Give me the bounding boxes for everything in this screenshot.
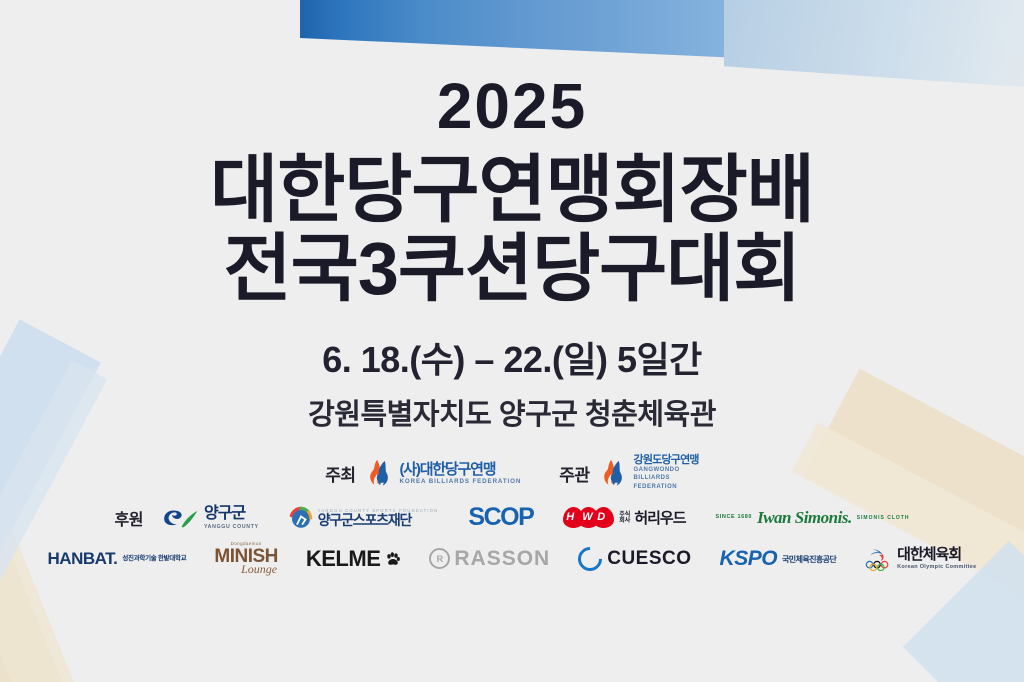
kelme-logo: KELME [306,546,402,572]
korean-olympic-committee-logo: 대한체육회 Korean Olympic Committee [864,547,976,571]
paw-icon [385,551,401,567]
hwd-name-kr: 허리우드 [634,507,685,528]
manager-label: 주관 [559,461,589,486]
gangwondo-name-en-2: BILLIARDS [634,475,699,483]
kbf-name-kr: (사)대한당구연맹 [400,462,522,477]
kspo-name-en: KSPO [720,548,778,569]
event-title-line-2: 전국3쿠션당구대회 [0,231,1024,306]
yanggu-name-en: YANGGU COUNTY [204,524,259,530]
koc-name-kr: 대한체육회 [897,547,976,563]
yanggu-county-logo: 양구군 YANGGU COUNTY [161,506,259,530]
yanggu-wordmark: 양구군 YANGGU COUNTY [204,506,259,530]
event-year: 2025 [0,74,1024,138]
cuesco-mark-icon [573,542,607,576]
cuesco-logo: CUESCO [578,547,691,571]
rasson-mark-icon: R [429,548,450,569]
event-title-line-1: 대한당구연맹회장배 [0,152,1024,227]
kspo-logo: KSPO 국민체육진흥공단 [720,548,837,569]
organizer-row: 주최 (사)대한당구연맹 KOREA BILLIARDS FEDERATION … [0,455,1024,492]
iwan-simonis-logo: SINCE 1680 Iwan Simonis. SIMONIS CLOTH [716,509,910,526]
koc-wordmark: 대한체육회 Korean Olympic Committee [897,547,976,571]
gangwondo-wordmark: 강원도당구연맹 GANGWONDO BILLIARDS FEDERATION [634,455,699,492]
olympic-rings-icon [864,547,892,571]
host-label: 주최 [325,461,355,486]
simonis-name: Iwan Simonis. [757,509,852,526]
simonis-since: SINCE 1680 [716,515,753,521]
poster-content: 2025 대한당구연맹회장배 전국3쿠션당구대회 6. 18.(수) – 22.… [0,0,1024,575]
bird-leaf-icon [161,506,199,530]
sports-foundation-wordmark: YANGGU COUNTY SPORTS FOUNDATION 양구군스포츠재단 [318,508,439,528]
runner-circle-icon [289,506,313,530]
hwd-mark-icon: HWD [563,507,615,529]
gangwondo-name-en-3: FEDERATION [634,484,699,492]
gangwondo-billiards-federation-logo: 강원도당구연맹 GANGWONDO BILLIARDS FEDERATION [599,455,699,492]
manager-group: 주관 강원도당구연맹 GANGWONDO BILLIARDS FEDERATIO… [559,455,699,492]
korea-billiards-federation-logo: (사)대한당구연맹 KOREA BILLIARDS FEDERATION [365,458,522,488]
kbf-name-en: KOREA BILLIARDS FEDERATION [400,479,522,485]
sponsor-row-2: HANBAT. 성진과학기술 한밭대학교 Dongdaemun MINISH L… [0,542,1024,575]
hwd-hollywood-logo: HWD 주식 회사 허리우드 [563,507,685,529]
event-date: 6. 18.(수) – 22.(일) 5일간 [0,331,1024,383]
koc-name-en: Korean Olympic Committee [897,565,976,571]
simonis-sub: SIMONIS CLOTH [857,516,910,521]
minish-name-sub: Lounge [240,563,278,575]
gangwondo-name-en-1: GANGWONDO [634,467,699,475]
flame-swirl-icon [365,458,395,488]
tournament-poster: 2025 대한당구연맹회장배 전국3쿠션당구대회 6. 18.(수) – 22.… [0,0,1024,682]
sponsor-label: 후원 [115,506,143,530]
hwd-sub-text: 주식 회사 [619,512,630,525]
yanggu-name-kr: 양구군 [204,506,259,522]
yanggu-sports-foundation-logo: YANGGU COUNTY SPORTS FOUNDATION 양구군스포츠재단 [289,506,439,530]
kspo-name-kr: 국민체육진흥공단 [782,556,836,564]
rasson-logo: R RASSON [429,547,550,571]
host-group: 주최 (사)대한당구연맹 KOREA BILLIARDS FEDERATION [325,458,521,488]
sponsor-row-1: 후원 양구군 YANGGU COUNTY [0,505,1024,530]
hanbat-logo: HANBAT. 성진과학기술 한밭대학교 [48,550,187,568]
hanbat-name-en: HANBAT. [48,550,118,568]
gangwondo-name-kr: 강원도당구연맹 [634,455,699,466]
hwd-sub-line-1: 주식 [619,512,630,518]
rasson-name: RASSON [454,547,550,571]
flame-swirl-icon [599,458,629,488]
cuesco-name: CUESCO [607,548,691,570]
sports-foundation-name-kr: 양구군스포츠재단 [318,513,439,528]
hwd-sub-line-2: 회사 [619,518,630,524]
minish-lounge-logo: Dongdaemun MINISH Lounge [214,542,278,575]
hanbat-name-kr: 성진과학기술 한밭대학교 [122,556,186,563]
kelme-name: KELME [306,546,381,572]
scop-logo: SCOP [468,505,533,530]
kbf-wordmark: (사)대한당구연맹 KOREA BILLIARDS FEDERATION [400,462,522,485]
event-venue: 강원특별자치도 양구군 청춘체육관 [0,391,1024,433]
